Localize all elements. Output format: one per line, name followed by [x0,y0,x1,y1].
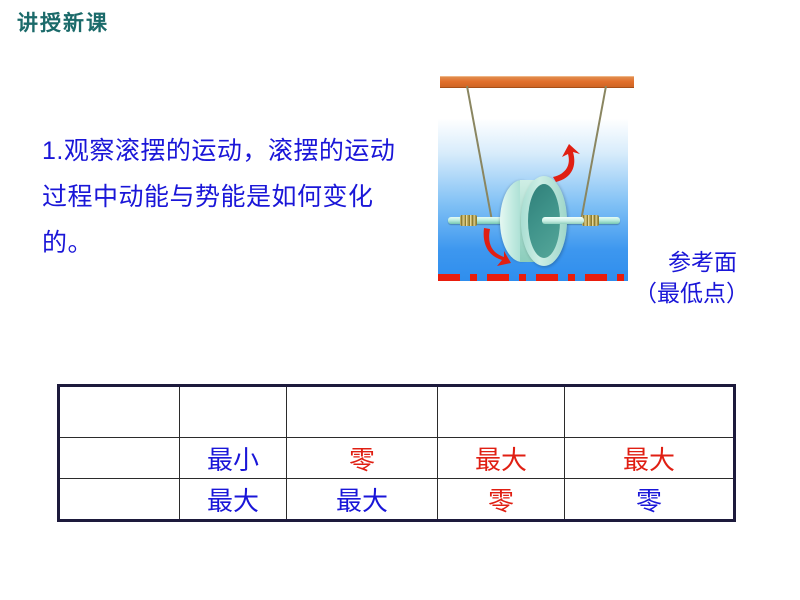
table-row: 最小 零 最大 最大 [59,438,735,479]
reference-plane-caption: 参考面 （最低点） [634,247,749,309]
table-cell[interactable]: 最小 [180,438,287,479]
table-cell[interactable] [438,386,565,438]
axle-center-icon [542,217,584,224]
table-cell[interactable]: 最大 [565,438,735,479]
reference-caption-line-1: 参考面 [634,247,749,278]
coil-spring-right-icon [582,215,599,226]
table-cell[interactable]: 零 [287,438,438,479]
table-cell[interactable] [180,386,287,438]
table-row [59,386,735,438]
question-text: 1.观察滚摆的运动，滚摆的运动过程中动能与势能是如何变化的。 [42,128,417,266]
table-cell[interactable] [287,386,438,438]
table-cell[interactable] [565,386,735,438]
table-cell[interactable] [59,438,180,479]
table-row: 最大 最大 零 零 [59,479,735,521]
slide-heading: 讲授新课 [17,12,109,35]
table-cell[interactable] [59,386,180,438]
rotation-arrow-down-icon [480,226,512,266]
table-cell[interactable]: 最大 [180,479,287,521]
reference-caption-line-2: （最低点） [634,278,749,309]
table-cell[interactable]: 零 [438,479,565,521]
table-cell[interactable]: 零 [565,479,735,521]
table-cell[interactable]: 最大 [287,479,438,521]
table-cell[interactable] [59,479,180,521]
rolling-pendulum-illustration [438,76,628,281]
reference-plane-dashed-line [438,274,628,281]
energy-comparison-table: 最小 零 最大 最大 最大 最大 零 零 [57,384,736,522]
coil-spring-left-icon [460,215,477,226]
table-cell[interactable]: 最大 [438,438,565,479]
rotation-arrow-up-icon [550,144,582,184]
